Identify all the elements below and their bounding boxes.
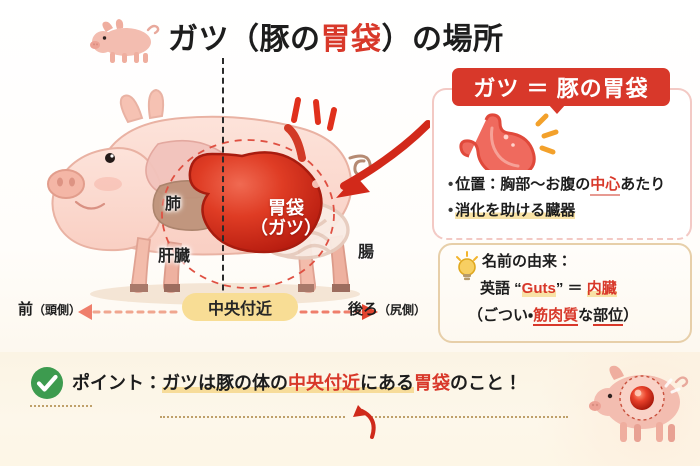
bullet-location-part2: あたり [620,176,665,193]
footer-emphasis-2: 胃袋 [414,373,450,393]
pig-with-stomach-marker-icon [584,358,696,458]
axis-label-front-sub: （頭側） [33,303,81,317]
center-axis-dashed-line [222,58,224,320]
definition-bullets: •位置：胸部〜お腹の中心あたり •消化を助ける臓器 [448,172,688,224]
lightbulb-icon [452,250,482,282]
label-stomach: 胃袋 （ガツ） [238,187,334,249]
origin-line-2: 英語 “Guts” ＝ 内臓 [480,275,692,302]
pig-anatomy-diagram: 肺 肝臓 腸 胃袋 （ガツ） [10,62,430,312]
bullet-location-part1: 位置：胸部〜お腹の [455,176,590,193]
footer-dotted-rule-2 [160,416,345,418]
footer-dotted-rule-3 [368,416,568,418]
origin-line-1: 名前の由来： [482,248,692,275]
check-circle-icon [30,366,64,400]
label-lung: 肺 [165,190,181,214]
footer-label: ポイント： [72,373,162,393]
label-intestine: 腸 [358,238,374,262]
axis-label-rear-main: 後ろ [348,301,378,318]
axis-label-front-main: 前 [18,301,33,318]
bullet-function: •消化を助ける臓器 [448,198,688,224]
origin-line3-pre: （ごつい・ [468,307,533,324]
footer-text-3: のこと！ [450,373,522,393]
bullet-location-emphasis: 中心 [590,176,620,196]
bullet-marker: • [448,202,453,219]
bullet-function-text: 消化を助ける臓器 [455,202,575,219]
origin-line2-pre: 英語 “ [480,280,522,297]
label-stomach-line2: （ガツ） [250,218,322,238]
axis-label-rear: 後ろ（尻側） [348,298,426,319]
definition-badge: ガツ ＝ 豚の胃袋 [452,68,670,106]
stomach-icon [456,112,576,170]
title-part-2: ）の場所 [382,23,504,56]
label-liver: 肝臓 [158,242,190,266]
title-part-1: ガツ（豚の [168,23,321,56]
title-highlight-word: 胃袋 [321,23,382,56]
axis-label-center: 中央付近 [182,293,298,321]
label-stomach-line1: 胃袋 [268,198,304,218]
page-title: ガツ（豚の胃袋）の場所 [168,17,588,63]
title-area: ガツ（豚の胃袋）の場所 [0,8,700,62]
footer-text-2: にある [360,373,414,393]
origin-line3-mid: な [578,307,593,324]
origin-line2-mid: ” ＝ [556,280,587,297]
footer-dotted-rule-1 [30,405,92,407]
origin-line3-emphasis-2: 部位 [593,307,623,326]
origin-text: 名前の由来： 英語 “Guts” ＝ 内臓 （ごつい・筋肉質な部位） [482,248,692,329]
pig-icon [86,16,170,66]
origin-naizou-word: 内臓 [587,280,617,297]
direction-axis: 前（頭側） 中央付近 後ろ（尻側） [18,296,438,326]
origin-line-3: （ごつい・筋肉質な部位） [468,302,692,329]
origin-line3-post: ） [623,307,638,324]
up-arrow-icon [344,397,378,439]
axis-label-front: 前（頭側） [18,298,81,319]
infographic-page: ガツ（豚の胃袋）の場所 [0,0,700,466]
bullet-location: •位置：胸部〜お腹の中心あたり [448,172,688,198]
footer-point-text: ポイント：ガツは豚の体の中央付近にある胃袋のこと！ [72,367,522,399]
origin-line3-emphasis-1: 筋肉質 [533,307,578,326]
bullet-marker: • [448,176,453,193]
origin-guts-word: Guts [522,280,556,297]
axis-label-rear-sub: （尻側） [378,303,426,317]
pig-body-illustration [10,62,430,312]
footer-text-1: ガツは豚の体の [162,373,288,393]
footer-emphasis-1: 中央付近 [288,373,360,393]
